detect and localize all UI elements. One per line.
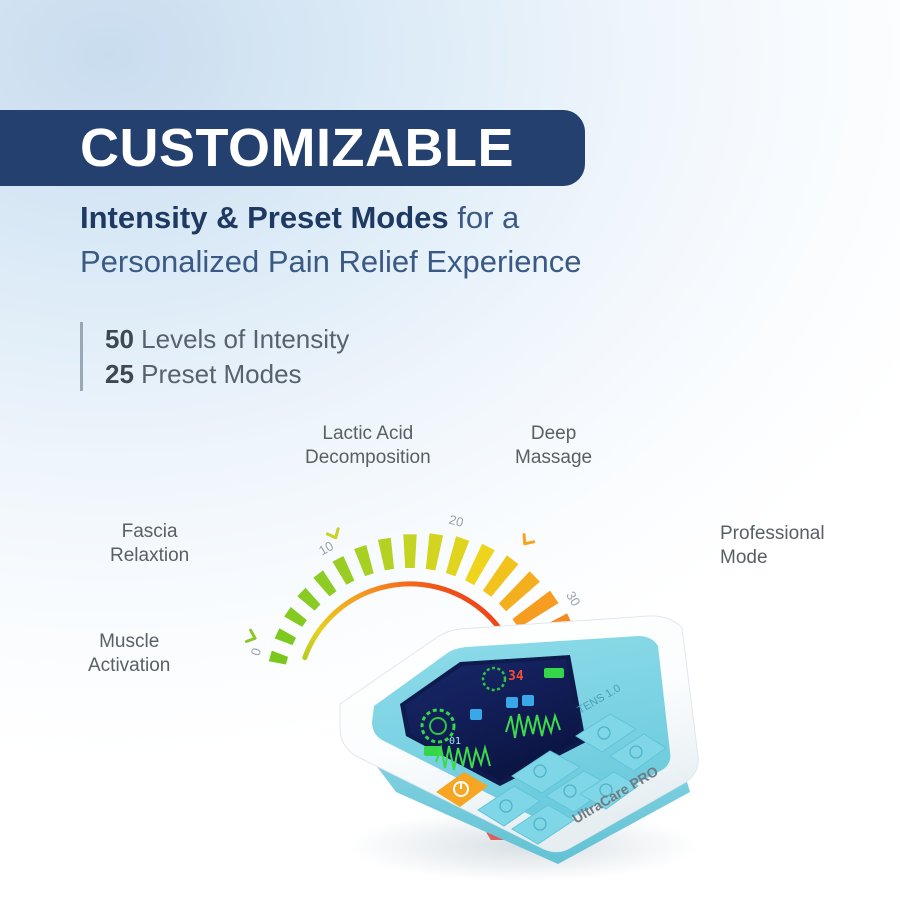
label-professional-mode: Professional Mode	[720, 522, 825, 570]
gauge-bar	[446, 536, 469, 576]
gauge-bar	[332, 556, 354, 585]
bullet-text: Levels of Intensity	[134, 324, 349, 354]
subtitle-line-2: Personalized Pain Relief Experience	[80, 240, 820, 284]
label-lactic-acid-decomposition: Lactic Acid Decomposition	[305, 422, 431, 470]
bullet-text: Preset Modes	[134, 359, 302, 389]
subtitle-strong: Intensity & Preset Modes	[80, 200, 449, 235]
gauge-tick-label: 0	[248, 646, 264, 657]
gauge-bar	[403, 534, 416, 568]
subtitle-light: for a	[449, 200, 520, 235]
marker-lactic-acid-icon	[520, 535, 534, 548]
feature-bullets: 50 Levels of Intensity 25 Preset Modes	[80, 322, 349, 391]
bullet-number: 25	[105, 359, 134, 389]
screen-indicator-right	[544, 668, 564, 678]
gauge-bar	[275, 628, 296, 645]
bullet-number: 50	[105, 324, 134, 354]
gauge-bar	[354, 545, 374, 576]
gauge-bar	[313, 570, 336, 596]
label-muscle-activation: Muscle Activation	[88, 630, 170, 678]
screen-main-value: 34	[508, 669, 524, 684]
gauge-bar	[426, 533, 443, 570]
gauge-tick-label: 10	[316, 538, 336, 558]
list-item: 50 Levels of Intensity	[105, 322, 349, 357]
label-fascia-relaxtion: Fascia Relaxtion	[110, 520, 189, 568]
screen-small-value: 01	[449, 736, 461, 747]
gauge-bar	[284, 607, 307, 627]
marker-muscle-activation-icon	[246, 630, 257, 644]
subtitle-block: Intensity & Preset Modes for a Personali…	[80, 196, 820, 284]
banner-title: CUSTOMIZABLE	[80, 121, 514, 175]
gauge-bar	[378, 538, 394, 571]
gauge-bar	[465, 544, 495, 585]
screen-chip-c	[522, 695, 534, 706]
marker-fascia-relaxtion-icon	[327, 529, 341, 540]
screen-chip-a	[470, 709, 482, 720]
tens-device: 34 01	[318, 596, 718, 886]
list-item: 25 Preset Modes	[105, 357, 349, 392]
customizable-banner: CUSTOMIZABLE	[0, 110, 585, 186]
subtitle-line-1: Intensity & Preset Modes for a	[80, 196, 820, 240]
infographic-page: CUSTOMIZABLE Intensity & Preset Modes fo…	[0, 0, 900, 899]
label-deep-massage: Deep Massage	[515, 422, 592, 470]
screen-chip-b	[506, 697, 518, 708]
gauge-bar	[269, 651, 288, 665]
gauge-tick-label: 20	[447, 512, 465, 530]
